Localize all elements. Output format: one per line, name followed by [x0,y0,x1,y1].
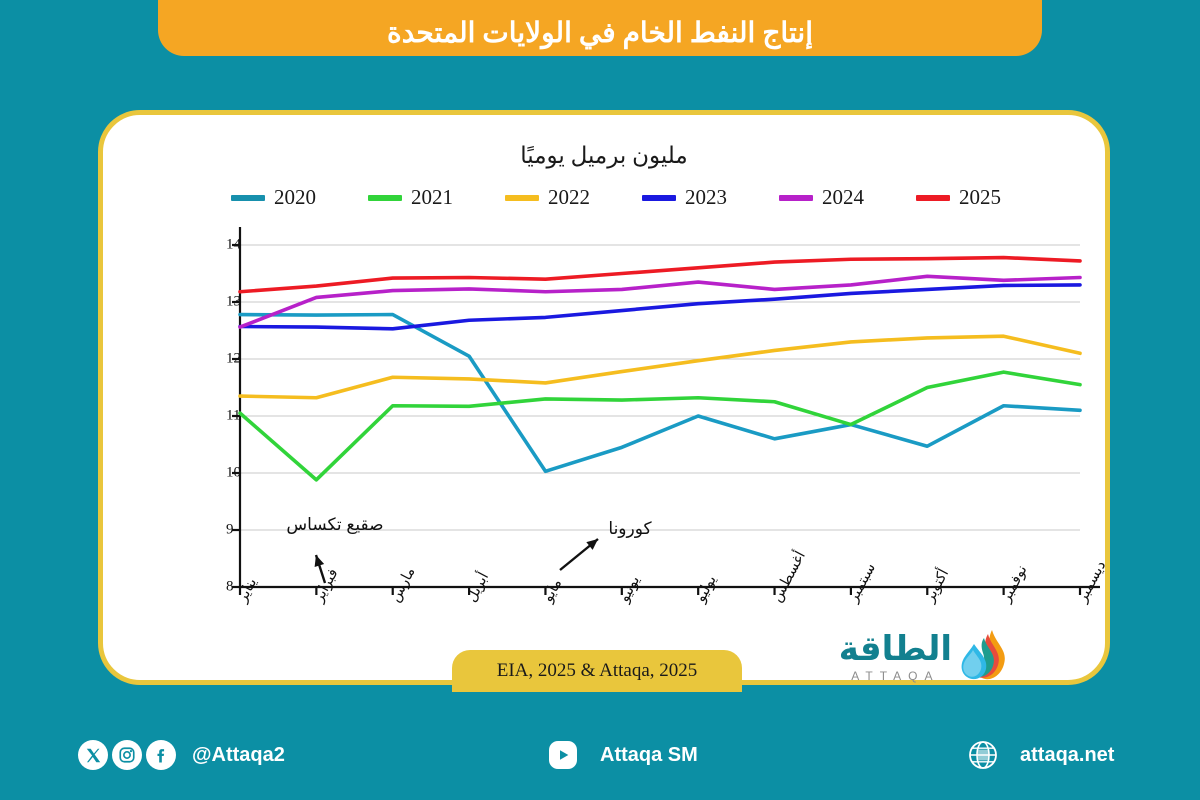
instagram-icon[interactable] [112,740,142,770]
x-tick-6: يوليو [692,573,720,606]
brand-name-arabic: الطاقة [839,632,952,666]
line-chart-svg: 891011121314 صقيع تكساسكورونا ينايرفبراي… [103,115,1115,690]
series-line-2021 [240,372,1080,480]
youtube-icon[interactable] [548,740,578,770]
y-tick-10: 10 [226,464,241,480]
brand-wordmark: الطاقة ATTAQA [839,632,952,683]
page-title: إنتاج النفط الخام في الولايات المتحدة [387,16,813,50]
y-tick-12: 12 [226,350,241,366]
grid-lines [240,245,1080,587]
x-tick-8: سبتمبر [845,561,879,606]
x-tick-10: نوفمبر [998,563,1031,606]
annotation-arrowhead-0 [315,555,325,567]
footer-sm-group: Attaqa SM [548,740,698,770]
plot-area: 891011121314 صقيع تكساسكورونا ينايرفبراي… [103,115,1115,690]
y-tick-14: 14 [226,236,242,252]
source-pill: EIA, 2025 & Attaqa, 2025 [452,650,742,692]
website-label: attaqa.net [1020,744,1114,767]
social-handle: @Attaqa2 [192,744,285,767]
x-axis-tick-labels: ينايرفبرايرمارسأبريلمايويونيويوليوأغسطسس… [234,547,1109,605]
brand-name-latin: ATTAQA [851,669,939,683]
footer-bar: @Attaqa2 Attaqa SM attaqa.net [0,710,1200,800]
chart-card: مليون برميل يوميًا 202020212022202320242… [98,110,1110,685]
y-tick-11: 11 [226,407,240,423]
x-icon[interactable] [78,740,108,770]
facebook-icon[interactable] [146,740,176,770]
x-tick-11: ديسمبر [1074,558,1109,605]
x-tick-2: مارس [387,565,418,605]
sm-label: Attaqa SM [600,744,698,767]
x-tick-4: مايو [539,576,565,605]
footer-web-group: attaqa.net [968,740,1114,770]
y-tick-8: 8 [226,578,234,594]
data-series [240,258,1080,480]
annotation-label-1: كورونا [608,519,652,538]
title-banner: إنتاج النفط الخام في الولايات المتحدة [158,0,1042,56]
x-tick-7: أغسطس [766,547,809,604]
brand-logo: الطاقة ATTAQA [800,622,1010,692]
footer-social-group: @Attaqa2 [78,740,285,770]
y-tick-13: 13 [226,293,241,309]
series-line-2022 [240,336,1080,398]
x-tick-0: يناير [234,575,260,605]
globe-icon[interactable] [968,740,998,770]
x-tick-9: أكتوبر [919,565,953,606]
source-text: EIA, 2025 & Attaqa, 2025 [497,660,698,682]
annotation-label-0: صقيع تكساس [286,515,383,535]
attaqa-droplet-icon [958,628,1010,686]
x-tick-5: يونيو [616,573,643,606]
chart-annotations: صقيع تكساسكورونا [286,515,652,583]
y-tick-9: 9 [226,521,234,537]
